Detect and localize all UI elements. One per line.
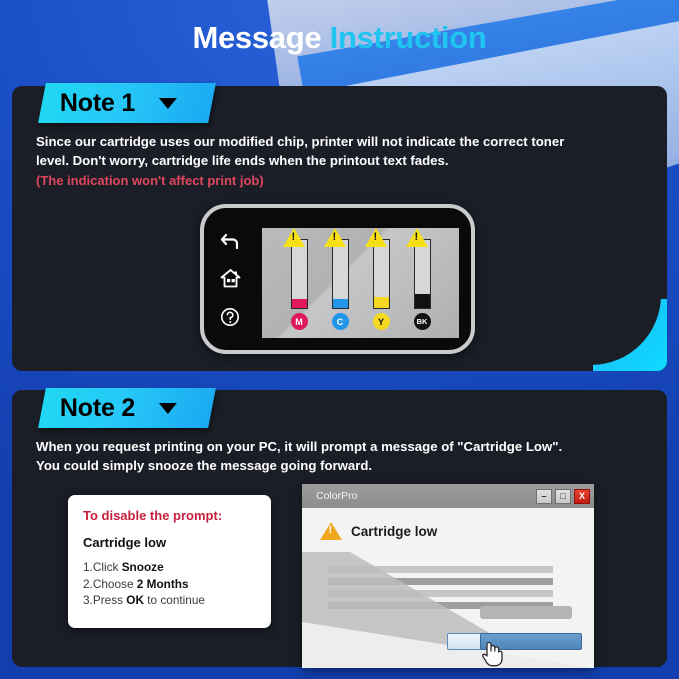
toner-chip-c: C <box>332 313 349 330</box>
toner-column-bk: !BK <box>408 239 436 330</box>
warning-triangle-icon: ! <box>374 240 391 259</box>
help-question-icon[interactable] <box>220 307 240 327</box>
note2-tab[interactable]: Note 2 <box>38 388 216 428</box>
colorpro-dialog: ColorPro – □ X Cartridge low OK <box>302 484 594 668</box>
toner-tube: ! <box>291 239 308 309</box>
toner-fill <box>415 294 430 308</box>
warning-triangle-shape: ! <box>365 228 387 247</box>
toner-tube: ! <box>414 239 431 309</box>
warning-triangle-icon: ! <box>333 240 350 259</box>
warning-exclamation: ! <box>415 228 419 247</box>
page-title: Message Instruction <box>0 20 679 56</box>
warning-triangle-icon <box>320 522 342 540</box>
chevron-down-icon <box>159 403 177 414</box>
warning-exclamation: ! <box>292 228 296 247</box>
toner-column-c: !C <box>326 239 354 330</box>
back-arrow-icon[interactable] <box>220 233 240 250</box>
instruction-step: 2.Choose 2 Months <box>83 576 256 593</box>
toner-tube: ! <box>332 239 349 309</box>
toner-fill <box>374 297 389 308</box>
toner-chip-y: Y <box>373 313 390 330</box>
warning-exclamation: ! <box>333 228 337 247</box>
toner-chip-m: M <box>291 313 308 330</box>
maximize-button[interactable]: □ <box>555 489 571 504</box>
dialog-message: Cartridge low <box>351 524 437 539</box>
warning-triangle-shape: ! <box>406 228 428 247</box>
page-title-primary: Message <box>192 20 321 55</box>
toner-fill <box>292 299 307 308</box>
warning-triangle-shape: ! <box>324 228 346 247</box>
toner-level-bars: !M!C!Y!BK <box>262 228 459 338</box>
minimize-button[interactable]: – <box>536 489 552 504</box>
dialog-body: Cartridge low OK <box>302 508 594 668</box>
instruction-card-header: To disable the prompt: <box>83 508 256 523</box>
dialog-title: ColorPro <box>316 490 533 502</box>
note1-red-note: (The indication won't affect print job) <box>36 171 666 190</box>
warning-exclamation: ! <box>374 228 378 247</box>
instruction-card-subject: Cartridge low <box>83 535 256 550</box>
chevron-down-icon <box>159 98 177 109</box>
warning-triangle-icon: ! <box>292 240 309 259</box>
instruction-card: To disable the prompt: Cartridge low 1.C… <box>68 495 271 628</box>
printer-screen: !M!C!Y!BK <box>262 228 459 338</box>
note1-tab[interactable]: Note 1 <box>38 83 216 123</box>
gray-placeholder-button <box>480 606 572 619</box>
note1-tab-label: Note 1 <box>60 89 135 118</box>
toner-fill <box>333 299 348 308</box>
instruction-step: 1.Click Snooze <box>83 559 256 576</box>
note2-copy: When you request printing on your PC, it… <box>36 437 666 475</box>
note1-copy: Since our cartridge uses our modified ch… <box>36 132 666 190</box>
note1-line1: Since our cartridge uses our modified ch… <box>36 132 666 151</box>
toner-tube: ! <box>373 239 390 309</box>
toner-chip-bk: BK <box>414 313 431 330</box>
dialog-message-row: Cartridge low <box>302 508 594 540</box>
printer-control-panel: !M!C!Y!BK <box>200 204 475 354</box>
dialog-titlebar: ColorPro – □ X <box>302 484 594 508</box>
instruction-step: 3.Press OK to continue <box>83 592 256 609</box>
instruction-steps-list: 1.Click Snooze2.Choose 2 Months3.Press O… <box>83 559 256 609</box>
note2-tab-label: Note 2 <box>60 394 135 423</box>
home-icon[interactable] <box>220 269 241 288</box>
warning-triangle-shape: ! <box>283 228 305 247</box>
note2-line2: You could simply snooze the message goin… <box>36 456 666 475</box>
warning-triangle-icon: ! <box>415 240 432 259</box>
toner-column-y: !Y <box>367 239 395 330</box>
page-title-secondary: Instruction <box>330 20 487 55</box>
note2-line1: When you request printing on your PC, it… <box>36 437 666 456</box>
toner-column-m: !M <box>285 239 313 330</box>
hand-pointer-cursor <box>480 639 504 668</box>
note1-line2: level. Don't worry, cartridge life ends … <box>36 151 666 170</box>
close-button[interactable]: X <box>574 489 590 504</box>
printer-side-buttons <box>204 208 256 350</box>
